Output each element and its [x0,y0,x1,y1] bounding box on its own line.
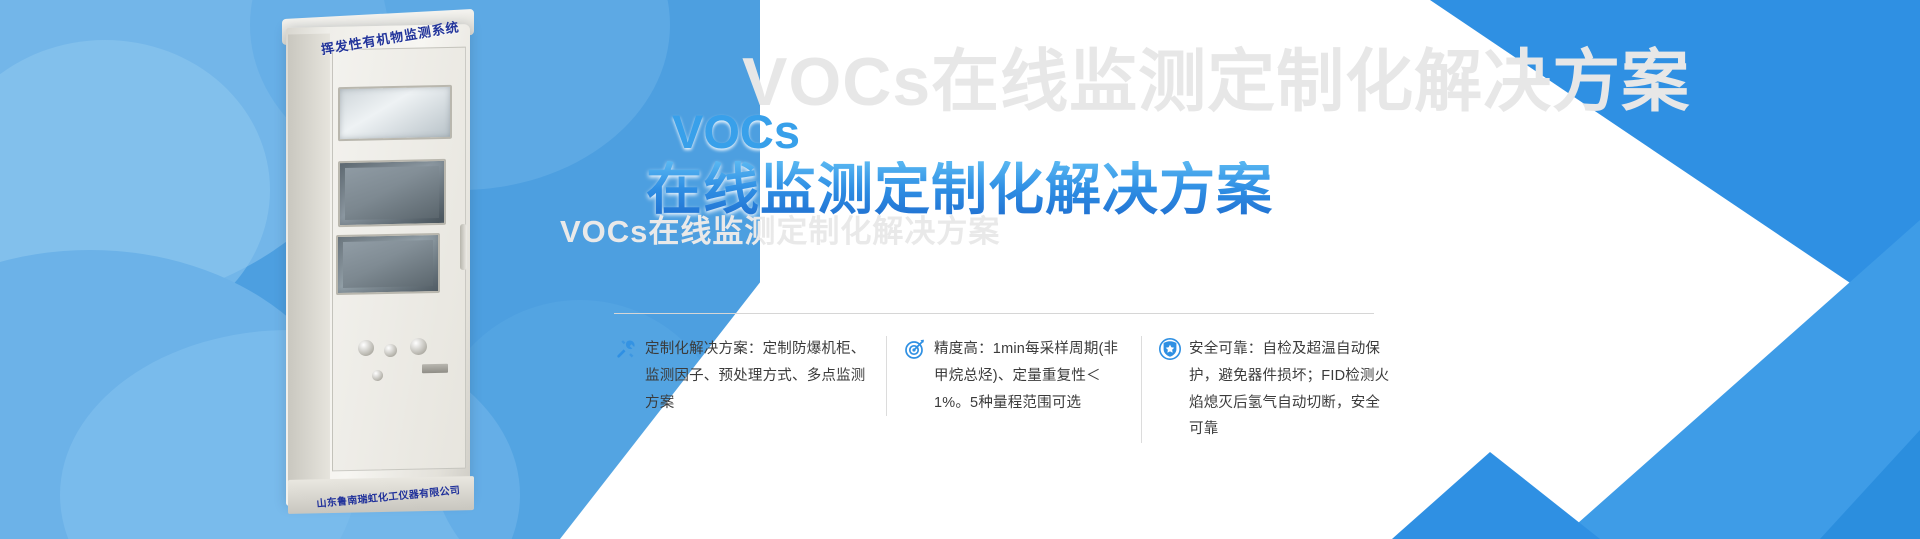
feature-text: 定制化解决方案：定制防爆机柜、监测因子、预处理方式、多点监测方案 [645,336,874,416]
tools-customize-icon [614,337,638,361]
feature-text: 安全可靠：自检及超温自动保护，避免器件损坏；FID检测火焰熄灭后氢气自动切断，安… [1189,336,1392,443]
section-divider [614,313,1374,314]
feature-item-customization: 定制化解决方案：定制防爆机柜、监测因子、预处理方式、多点监测方案 [614,336,886,416]
cabinet-door-handle [460,224,467,270]
screen-surface [345,166,439,220]
feature-item-safety: 安全可靠：自检及超温自动保护，避免器件损坏；FID检测火焰熄灭后氢气自动切断，安… [1141,336,1404,443]
cabinet-display-screen-lower [336,233,440,295]
headline-block: VOCs 在线监测定制化解决方案 [672,108,1273,220]
cabinet-vent [422,364,448,374]
cabinet-display-screen-upper [338,159,446,227]
headline-english: VOCs [672,108,1273,155]
feature-text: 精度高：1min每采样周期(非甲烷总烃)、定量重复性＜1%。5种量程范围可选 [934,336,1129,416]
shield-star-safety-icon [1158,337,1182,361]
screen-surface [343,240,433,288]
headline-chinese: 在线监测定制化解决方案 [646,161,1273,220]
target-accuracy-icon [903,337,927,361]
feature-item-accuracy: 精度高：1min每采样周期(非甲烷总烃)、定量重复性＜1%。5种量程范围可选 [886,336,1141,416]
cabinet-side-panel [288,34,330,497]
cabinet-viewing-window [338,85,452,141]
vocs-promo-banner: VOCs在线监测定制化解决方案 挥发性有机物监测系统 山东鲁南瑞虹化工仪器有限公… [0,0,1920,539]
feature-list: 定制化解决方案：定制防爆机柜、监测因子、预处理方式、多点监测方案 精度高：1mi… [614,336,1404,443]
voc-monitoring-cabinet-image: 挥发性有机物监测系统 山东鲁南瑞虹化工仪器有限公司 [272,8,484,520]
watermark-headline-top: VOCs在线监测定制化解决方案 [742,48,1690,116]
watermark-headline-mid: VOCs在线监测定制化解决方案 [560,216,1000,247]
